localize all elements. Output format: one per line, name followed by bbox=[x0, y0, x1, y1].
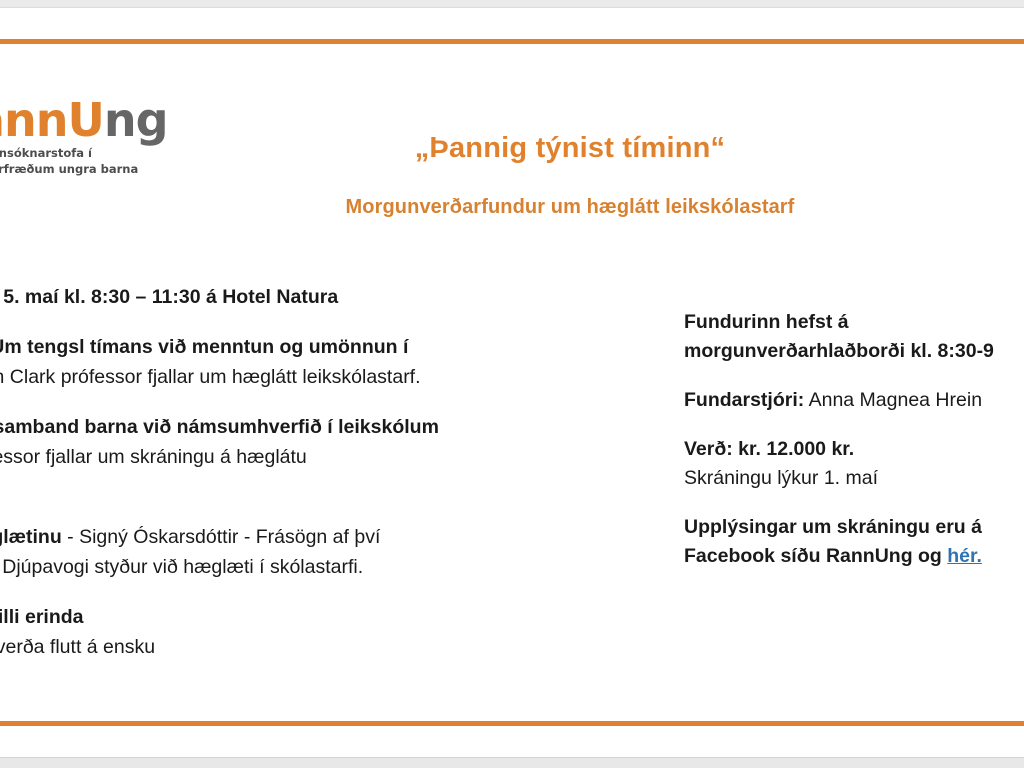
logo-wordmark-orange: annU bbox=[0, 93, 104, 147]
programme-closing-note: Alison og Kari verða flutt á ensku bbox=[0, 636, 155, 658]
programme-column: á föstudaginn 5. maí kl. 8:30 – 11:30 á … bbox=[0, 282, 670, 662]
programme-talk-3-title: gjan býr í hæglætinu bbox=[0, 526, 62, 548]
programme-talk-1-line-1: ígrundunar? Um tengsl tímans við menntun… bbox=[0, 332, 670, 362]
details-price-line: Verð: kr. 12.000 kr. bbox=[684, 435, 1024, 464]
bottom-orange-rule bbox=[0, 721, 1024, 726]
programme-talk-3-line-1: gjan býr í hæglætinu - Signý Óskarsdótti… bbox=[0, 522, 670, 552]
details-start-text: Fundurinn hefst á bbox=[684, 311, 849, 333]
programme-talk-1-line-2: lum - Dr. Alison Clark prófessor fjallar… bbox=[0, 362, 670, 392]
programme-talk-2: að gera? Um samband barna við námsumhver… bbox=[0, 412, 670, 502]
event-subtitle: Morgunverðarfundur um hæglátt leikskólas… bbox=[180, 196, 960, 219]
details-deadline-line: Skráningu lýkur 1. maí bbox=[684, 464, 1024, 493]
programme-talk-3-speaker: - Signý Óskarsdóttir - Frásögn af því bbox=[62, 526, 381, 548]
details-start-line-2: morgunverðarhlaðborði kl. 8:30-9 bbox=[684, 337, 1024, 366]
details-price-text: Verð: kr. 12.000 kr. bbox=[684, 438, 854, 460]
details-registration-line-1: Upplýsingar um skráningu eru á bbox=[684, 513, 1024, 542]
programme-talk-2-line-3: astarfi. bbox=[0, 472, 670, 502]
details-registration-facebook: Facebook síðu RannUng og bbox=[684, 545, 947, 567]
programme-closing-line-2: Alison og Kari verða flutt á ensku bbox=[0, 632, 670, 662]
programme-talk-2-speaker: ri Carlsen prófessor fjallar um skráning… bbox=[0, 446, 307, 468]
programme-talk-1-speaker: - Dr. Alison Clark prófessor fjallar um … bbox=[0, 366, 421, 388]
window-bottom-chrome bbox=[0, 757, 1024, 768]
details-registration-block: Upplýsingar um skráningu eru á Facebook … bbox=[684, 513, 1024, 571]
details-start-time: morgunverðarhlaðborði kl. 8:30-9 bbox=[684, 340, 994, 362]
details-column: Fundurinn hefst á morgunverðarhlaðborði … bbox=[684, 308, 1024, 571]
details-price-block: Verð: kr. 12.000 kr. Skráningu lýkur 1. … bbox=[684, 435, 1024, 493]
logo-tagline-line-2: unarfræðum ungra barna bbox=[0, 162, 174, 176]
details-chair-name: Anna Magnea Hrein bbox=[804, 389, 982, 411]
details-chair-line: Fundarstjóri: Anna Magnea Hrein bbox=[684, 386, 1024, 415]
details-start-line-1: Fundurinn hefst á bbox=[684, 308, 1024, 337]
programme-talk-1: ígrundunar? Um tengsl tímans við menntun… bbox=[0, 332, 670, 392]
details-registration-line-2: Facebook síðu RannUng og hér. bbox=[684, 542, 1024, 571]
logo-tagline-line-1: Rannsóknarstofa í bbox=[0, 146, 174, 160]
details-start-block: Fundurinn hefst á morgunverðarhlaðborði … bbox=[684, 308, 1024, 366]
slide-canvas: annUng Rannsóknarstofa í unarfræðum ungr… bbox=[0, 0, 1024, 768]
logo-wordmark: annUng bbox=[0, 96, 174, 144]
window-top-chrome bbox=[0, 0, 1024, 8]
programme-talk-2-line-1: að gera? Um samband barna við námsumhver… bbox=[0, 412, 670, 442]
details-deadline-text: Skráningu lýkur 1. maí bbox=[684, 467, 878, 489]
event-title: „Þannig týnist tíminn“ bbox=[180, 132, 960, 165]
programme-closing-line-1: ður verða á milli erinda bbox=[0, 602, 670, 632]
rannung-logo: annUng Rannsóknarstofa í unarfræðum ungr… bbox=[0, 96, 174, 176]
details-registration-text: Upplýsingar um skráningu eru á bbox=[684, 516, 982, 538]
programme-talk-3: gjan býr í hæglætinu - Signý Óskarsdótti… bbox=[0, 522, 670, 582]
programme-closing: ður verða á milli erinda Alison og Kari … bbox=[0, 602, 670, 662]
programme-closing-title: ður verða á milli erinda bbox=[0, 606, 84, 628]
programme-datetime: á föstudaginn 5. maí kl. 8:30 – 11:30 á … bbox=[0, 282, 670, 312]
programme-talk-1-title: ígrundunar? Um tengsl tímans við menntun… bbox=[0, 336, 408, 358]
details-chair-block: Fundarstjóri: Anna Magnea Hrein bbox=[684, 386, 1024, 415]
registration-link[interactable]: hér. bbox=[947, 545, 982, 567]
logo-wordmark-grey: ng bbox=[104, 93, 168, 147]
programme-talk-3-line-2: g samfélagið á Djúpavogi styður við hægl… bbox=[0, 552, 670, 582]
details-chair-label: Fundarstjóri: bbox=[684, 389, 804, 411]
programme-datetime-text: á föstudaginn 5. maí kl. 8:30 – 11:30 á … bbox=[0, 286, 338, 308]
programme-talk-2-line-2: ri Carlsen prófessor fjallar um skráning… bbox=[0, 442, 670, 472]
top-orange-rule bbox=[0, 39, 1024, 44]
programme-talk-3-speaker-cont: g samfélagið á Djúpavogi styður við hægl… bbox=[0, 556, 363, 578]
programme-talk-2-title: að gera? Um samband barna við námsumhver… bbox=[0, 416, 439, 438]
